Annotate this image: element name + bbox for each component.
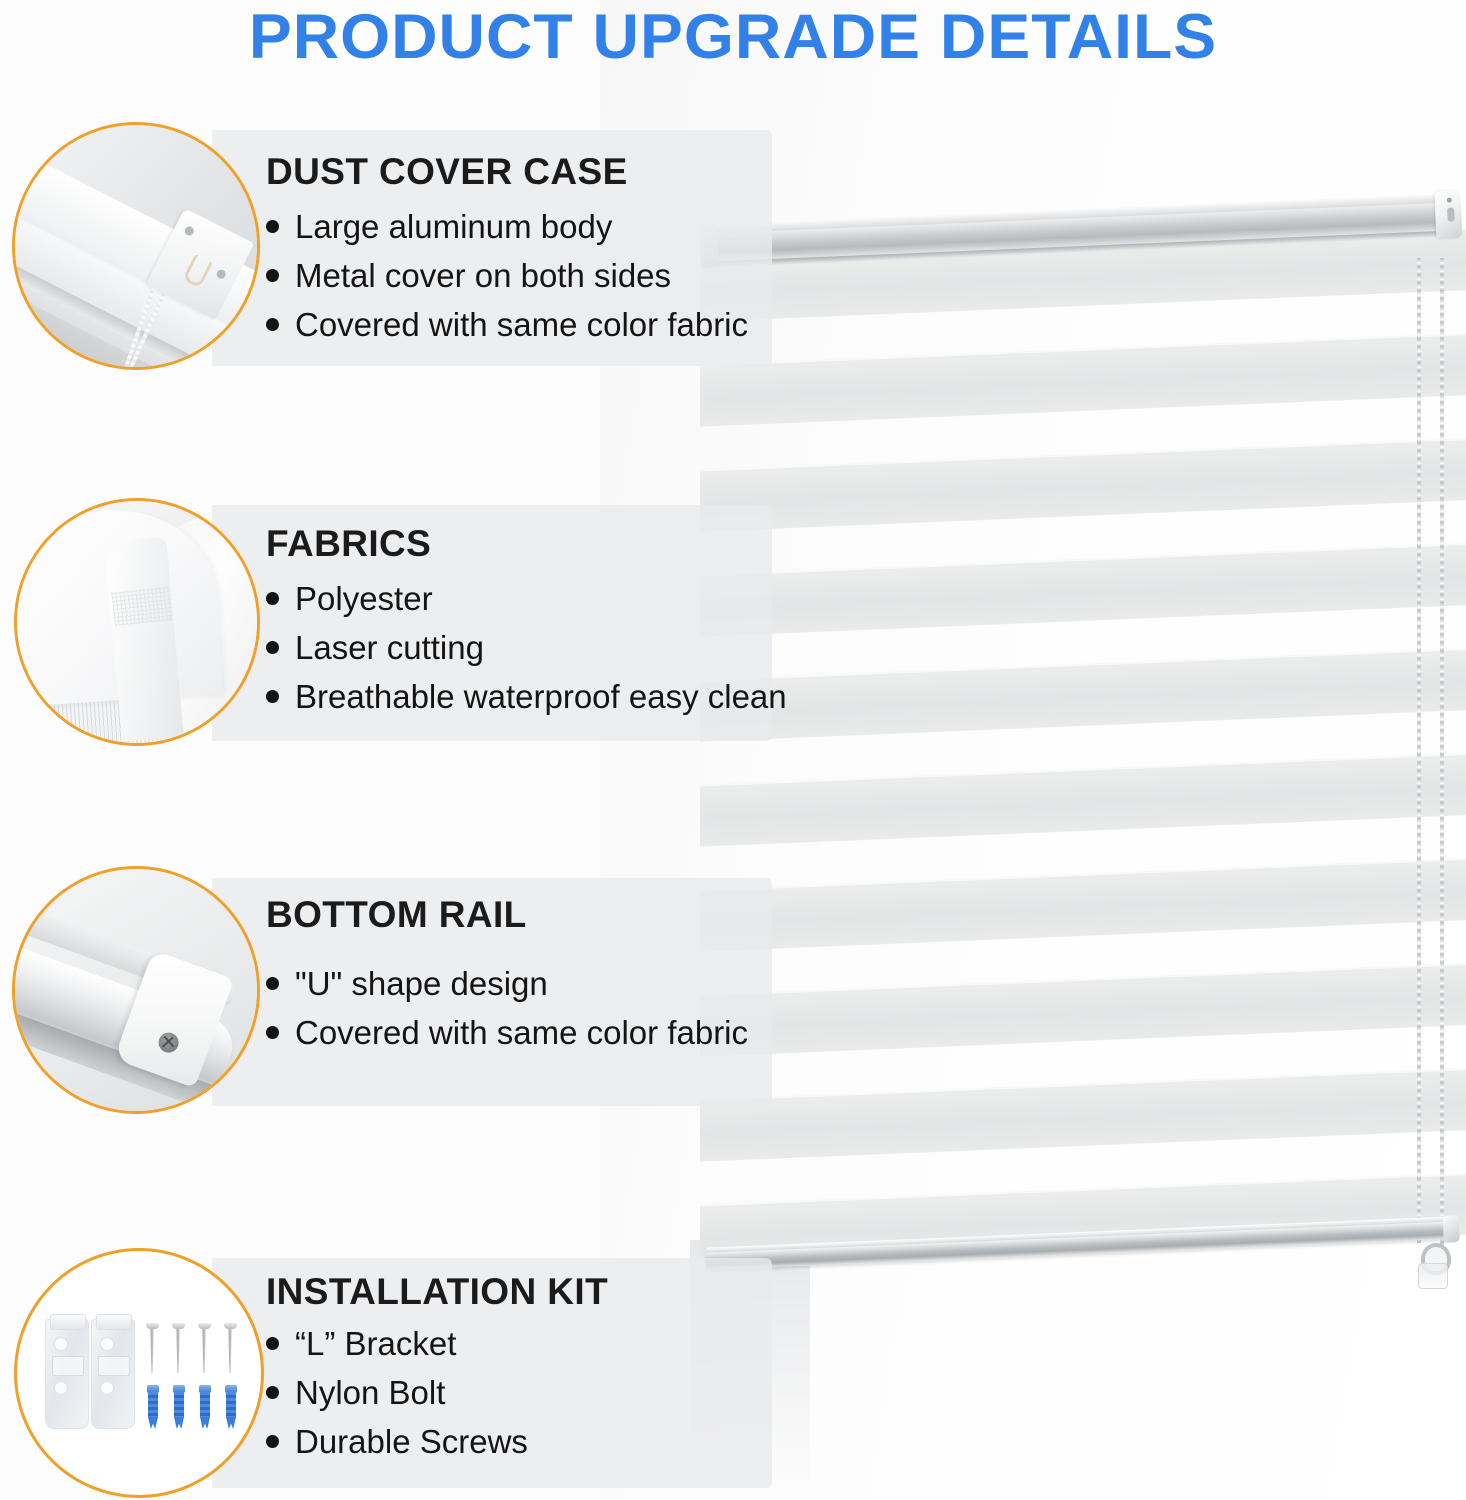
nylon-anchor-part xyxy=(224,1385,238,1429)
fabric-stripe xyxy=(700,648,1466,742)
fabric-stripe xyxy=(700,1068,1466,1162)
bullet-dot-icon xyxy=(266,977,279,990)
bullet-dot-icon xyxy=(266,592,279,605)
screw-head xyxy=(172,1323,185,1329)
bracket-tab xyxy=(50,1314,86,1330)
l-bracket-part xyxy=(91,1319,135,1429)
bullet-dot-icon xyxy=(266,318,279,331)
feature-bullet-text: Durable Screws xyxy=(295,1423,528,1460)
feature-bullet-text: Covered with same color fabric xyxy=(295,306,748,343)
endcap-chain-slot xyxy=(1447,207,1455,221)
blind-stripe-group xyxy=(700,215,1466,1325)
endcap-chain-guide xyxy=(182,254,213,289)
anchor-tip xyxy=(174,1417,184,1429)
feature-title: BOTTOM RAIL xyxy=(266,895,527,935)
feature-bullet-text: Nylon Bolt xyxy=(295,1374,445,1411)
anchor-body xyxy=(226,1392,236,1418)
feature-bullet: "U" shape design xyxy=(266,965,548,1002)
feature-bullet: Covered with same color fabric xyxy=(266,1014,748,1051)
screw-part xyxy=(175,1323,182,1373)
screw-shank xyxy=(202,1329,206,1373)
kit-parts-group xyxy=(45,1319,245,1429)
feature-bullet-text: Laser cutting xyxy=(295,629,484,666)
fabric-stripe xyxy=(700,543,1466,637)
anchor-body xyxy=(148,1392,158,1418)
bullet-dot-icon xyxy=(266,1435,279,1448)
feature-title: DUST COVER CASE xyxy=(266,152,628,192)
feature-bullet-text: Polyester xyxy=(295,580,433,617)
feature-bullet-text: Large aluminum body xyxy=(295,208,612,245)
bead-chain-strand xyxy=(1440,258,1444,1258)
bead-chain-strand xyxy=(1417,258,1421,1243)
bottom-rail-endcap xyxy=(1443,1215,1460,1243)
feature-bullet: Breathable waterproof easy clean xyxy=(266,678,787,715)
endcap-screw-icon xyxy=(215,268,227,280)
zebra-blind-fabric xyxy=(700,215,1466,1325)
bullet-dot-icon xyxy=(266,1026,279,1039)
bullet-dot-icon xyxy=(266,1386,279,1399)
screw-part xyxy=(227,1323,234,1373)
l-bracket-part xyxy=(45,1319,89,1429)
anchor-tip xyxy=(148,1417,158,1429)
bullet-dot-icon xyxy=(266,1337,279,1350)
feature-bullet: “L” Bracket xyxy=(266,1325,456,1362)
feature-bullet: Metal cover on both sides xyxy=(266,257,671,294)
screw-shank xyxy=(176,1329,180,1373)
nylon-anchor-part xyxy=(198,1385,212,1429)
anchor-body xyxy=(200,1392,210,1418)
fabric-stripe xyxy=(700,753,1466,847)
bracket-tab xyxy=(96,1314,132,1330)
page-title: PRODUCT UPGRADE DETAILS xyxy=(0,2,1466,72)
chain-tensioner xyxy=(1416,1243,1448,1287)
fabric-stripe xyxy=(700,858,1466,952)
nylon-anchor-part xyxy=(146,1385,160,1429)
screw-head xyxy=(146,1323,159,1329)
fabric-stripe xyxy=(700,438,1466,532)
feature-bullet-text: Covered with same color fabric xyxy=(295,1014,748,1051)
bullet-dot-icon xyxy=(266,690,279,703)
feature-bullet-text: Metal cover on both sides xyxy=(295,257,671,294)
bullet-dot-icon xyxy=(266,641,279,654)
endcap-screw-icon xyxy=(1447,197,1452,202)
feature-bullet: Nylon Bolt xyxy=(266,1374,445,1411)
fabric-weave-texture xyxy=(111,586,172,626)
headrail-right-endcap xyxy=(1434,190,1462,239)
feature-bullet: Large aluminum body xyxy=(266,208,612,245)
screw-part xyxy=(149,1323,156,1373)
bracket-clip xyxy=(52,1356,84,1376)
fabric-stripe xyxy=(700,963,1466,1057)
installation-kit-photo xyxy=(14,1248,264,1498)
feature-title: FABRICS xyxy=(266,524,431,564)
nylon-anchor-part xyxy=(172,1385,186,1429)
feature-bullet-text: "U" shape design xyxy=(295,965,548,1002)
product-upgrade-infographic: PRODUCT UPGRADE DETAILS DUST COVER CASE … xyxy=(0,0,1466,1500)
feature-bullet: Laser cutting xyxy=(266,629,484,666)
chain-tensioner-body xyxy=(1418,1263,1448,1289)
fabrics-photo xyxy=(14,498,260,746)
screw-shank xyxy=(150,1329,154,1373)
feature-bullet: Covered with same color fabric xyxy=(266,306,748,343)
screw-head xyxy=(198,1323,211,1329)
fabric-stripe xyxy=(700,333,1466,427)
endcap-screw-icon xyxy=(156,1030,182,1056)
anchor-tip xyxy=(226,1417,236,1429)
anchor-tip xyxy=(200,1417,210,1429)
feature-bullet: Durable Screws xyxy=(266,1423,528,1460)
dust-cover-case-photo xyxy=(12,122,260,370)
screw-head xyxy=(224,1323,237,1329)
bullet-dot-icon xyxy=(266,269,279,282)
bracket-clip xyxy=(98,1356,130,1376)
feature-title: INSTALLATION KIT xyxy=(266,1272,608,1312)
feature-bullet-text: “L” Bracket xyxy=(295,1325,456,1362)
bullet-dot-icon xyxy=(266,220,279,233)
anchor-body xyxy=(174,1392,184,1418)
screw-part xyxy=(201,1323,208,1373)
endcap-screw-icon xyxy=(183,225,195,237)
bottom-rail-photo xyxy=(12,866,260,1114)
screw-shank xyxy=(228,1329,232,1373)
feature-bullet-text: Breathable waterproof easy clean xyxy=(295,678,787,715)
feature-bullet: Polyester xyxy=(266,580,433,617)
